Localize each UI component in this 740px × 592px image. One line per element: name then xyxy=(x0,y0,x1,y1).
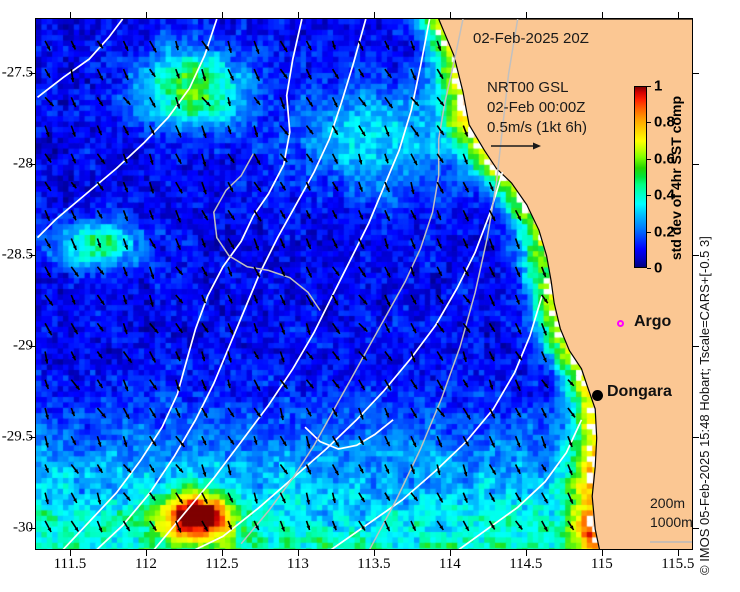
velocity-arrow-head xyxy=(464,132,468,137)
velocity-arrow-head xyxy=(464,160,468,165)
x-axis-tick xyxy=(602,12,603,18)
velocity-arrow-head xyxy=(412,358,416,363)
velocity-arrow-head xyxy=(542,272,546,277)
vector-reference-arrow-icon xyxy=(487,138,547,154)
velocity-arrow-head xyxy=(202,243,206,248)
y-axis-label: -29.5 xyxy=(2,429,33,446)
velocity-arrow-head xyxy=(411,272,415,277)
model-info-block: NRT00 GSL 02-Feb 00:00Z 0.5m/s (1kt 6h) xyxy=(487,78,587,160)
velocity-arrow-head xyxy=(125,386,129,391)
velocity-arrow-head xyxy=(489,385,493,390)
velocity-arrow-head xyxy=(411,46,415,51)
velocity-arrow-head xyxy=(385,413,388,418)
colorbar-title: std dev of 4hr SST comp xyxy=(668,96,684,260)
velocity-arrow-head xyxy=(490,245,494,250)
contour-1000m xyxy=(38,19,217,238)
contour-200m xyxy=(214,154,320,311)
velocity-arrow-head xyxy=(385,159,389,164)
velocity-arrow-head xyxy=(281,358,285,363)
velocity-arrow-head xyxy=(99,528,102,533)
velocity-arrow-head xyxy=(516,300,519,305)
velocity-arrow-head xyxy=(72,300,75,305)
contour-1000m xyxy=(305,420,393,449)
velocity-arrow-head xyxy=(307,244,310,249)
colorbar-tick xyxy=(647,122,651,123)
date-stamp: 02-Feb-2025 20Z xyxy=(473,30,589,47)
velocity-arrow-head xyxy=(517,443,520,448)
x-axis-tick xyxy=(146,12,147,18)
y-axis-label: -28.5 xyxy=(2,246,33,263)
velocity-arrow-head xyxy=(543,444,547,449)
info-line-time: 02-Feb 00:00Z xyxy=(487,98,587,118)
y-axis-label: -30 xyxy=(13,520,33,537)
bathymetry-scale-legend: 200m 1000m xyxy=(650,494,694,551)
velocity-arrow-head xyxy=(228,129,232,134)
x-axis-tick xyxy=(374,12,375,18)
velocity-arrow-head xyxy=(281,527,285,532)
velocity-arrow-head xyxy=(150,189,154,194)
dongara-city-label: Dongara xyxy=(607,383,672,401)
velocity-arrow-head xyxy=(437,46,441,51)
velocity-arrow-head xyxy=(281,104,285,109)
x-axis-tick xyxy=(298,12,299,18)
velocity-arrow-head xyxy=(72,132,76,137)
x-axis-label: 111.5 xyxy=(54,556,87,573)
contour-1000m xyxy=(38,19,123,97)
velocity-arrow-head xyxy=(255,246,259,251)
dongara-marker-icon xyxy=(592,390,603,401)
y-axis-tick xyxy=(693,164,699,165)
velocity-arrow-head xyxy=(123,299,127,304)
scale-line-sample-icon xyxy=(650,538,694,546)
x-axis-label: 113 xyxy=(287,556,309,573)
velocity-arrow-head xyxy=(254,440,258,445)
velocity-arrow-head xyxy=(124,216,128,221)
velocity-arrow-head xyxy=(177,218,181,223)
y-axis-tick xyxy=(693,346,699,347)
contour-1000m xyxy=(193,172,503,550)
y-axis-label: -28 xyxy=(13,155,33,172)
x-axis-label: 115.5 xyxy=(661,556,694,573)
velocity-arrow-head xyxy=(176,74,180,79)
colorbar-label: 0 xyxy=(654,260,662,277)
info-line-vector-scale: 0.5m/s (1kt 6h) xyxy=(487,118,587,138)
velocity-arrow-head xyxy=(203,133,207,138)
x-axis-tick xyxy=(526,12,527,18)
velocity-arrow-head xyxy=(151,274,155,279)
scale-label-1000m: 1000m xyxy=(650,513,694,532)
velocity-arrow-head xyxy=(385,244,389,249)
velocity-arrow-head xyxy=(386,132,390,137)
velocity-arrow-head xyxy=(124,245,128,250)
argo-marker-icon xyxy=(617,320,624,327)
velocity-arrow-head xyxy=(46,132,50,137)
info-line-product: NRT00 GSL xyxy=(487,78,587,98)
x-axis-tick xyxy=(450,12,451,18)
velocity-arrow-head xyxy=(438,215,442,220)
map-overlay-layer xyxy=(36,19,693,550)
velocity-arrow-head xyxy=(306,525,310,530)
velocity-arrow-head xyxy=(203,190,207,195)
velocity-arrow-head xyxy=(333,526,337,531)
velocity-arrow-head xyxy=(45,384,49,389)
contour-1000m xyxy=(457,420,582,550)
x-axis-label: 112 xyxy=(135,556,157,573)
velocity-arrow-head xyxy=(332,45,336,50)
x-axis-tick xyxy=(70,12,71,18)
contour-1000m xyxy=(95,19,366,550)
x-axis-label: 114.5 xyxy=(509,556,542,573)
colorbar-tick xyxy=(647,268,651,269)
velocity-arrow-head xyxy=(150,215,154,220)
colorbar-tick xyxy=(647,195,651,196)
y-axis-tick xyxy=(693,528,699,529)
credit-text: © IMOS 05-Feb-2025 15:48 Hobart; Tscale=… xyxy=(697,236,712,575)
velocity-arrow-head xyxy=(281,330,285,335)
argo-legend-label: Argo xyxy=(634,313,671,331)
velocity-arrow-head xyxy=(543,331,547,336)
colorbar-label: 1 xyxy=(654,78,662,95)
y-axis-label: -29 xyxy=(13,337,33,354)
contour-200m xyxy=(241,19,463,544)
map-plot-area xyxy=(35,18,693,550)
x-axis-tick xyxy=(222,12,223,18)
x-axis-label: 112.5 xyxy=(205,556,238,573)
velocity-arrow-head xyxy=(464,498,467,503)
colorbar-tick xyxy=(647,159,651,160)
velocity-arrow-head xyxy=(411,469,415,474)
y-axis-tick xyxy=(693,73,699,74)
velocity-arrow-head xyxy=(359,187,363,192)
velocity-arrow-head xyxy=(307,330,311,335)
velocity-arrow-head xyxy=(98,442,102,447)
velocity-arrow-head xyxy=(203,472,207,477)
x-axis-label: 114 xyxy=(439,556,461,573)
velocity-arrow-head xyxy=(71,412,75,417)
velocity-arrow-head xyxy=(256,49,260,54)
velocity-arrow-head xyxy=(228,272,232,277)
y-axis-tick xyxy=(693,437,699,438)
x-axis-label: 113.5 xyxy=(357,556,390,573)
velocity-arrow-head xyxy=(124,330,128,335)
x-axis-label: 115 xyxy=(591,556,613,573)
velocity-arrow-head xyxy=(124,272,128,277)
velocity-arrow-head xyxy=(516,244,520,249)
velocity-arrow-head xyxy=(254,329,258,334)
velocity-arrow-head xyxy=(254,299,258,304)
velocity-arrow-head xyxy=(97,243,101,248)
colorbar-gradient xyxy=(634,86,647,268)
y-axis-label: -27.5 xyxy=(2,64,33,81)
x-axis-tick xyxy=(678,12,679,18)
colorbar: 00.20.40.60.81 xyxy=(634,86,647,268)
scale-label-200m: 200m xyxy=(650,494,694,513)
y-axis-tick xyxy=(693,255,699,256)
colorbar-tick xyxy=(647,86,651,87)
colorbar-tick xyxy=(647,232,651,233)
